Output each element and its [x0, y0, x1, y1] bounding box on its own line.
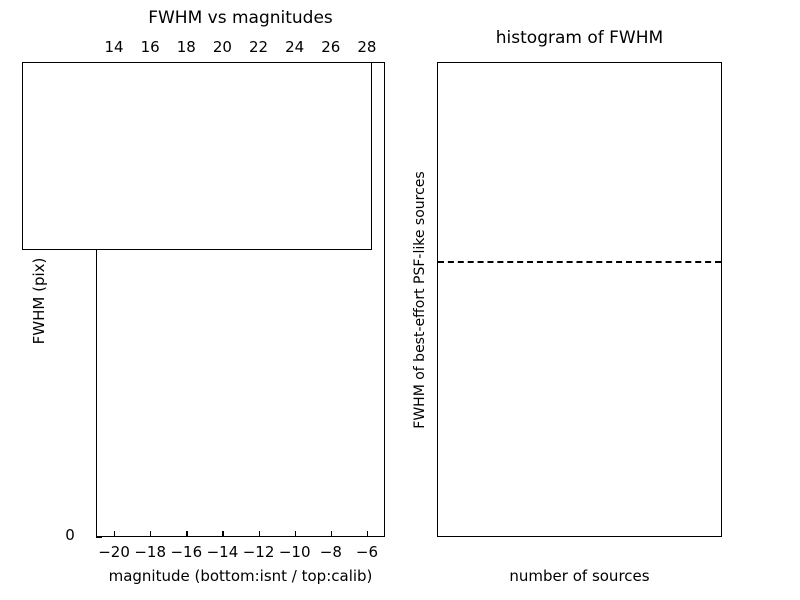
- xtick-label-top: 18: [168, 38, 204, 56]
- xtick-label-top: 24: [277, 38, 313, 56]
- axis-tick: [331, 531, 332, 537]
- xtick-label-top: 28: [349, 38, 385, 56]
- xtick-label-top: 26: [313, 38, 349, 56]
- histogram-plot-area: [438, 63, 721, 536]
- ytick-label: 0: [50, 526, 90, 544]
- histogram-title: histogram of FWHM: [437, 28, 722, 48]
- axis-tick: [295, 531, 296, 537]
- scatter-yaxis-label: FWHM (pix): [30, 241, 48, 361]
- xtick-label-top: 16: [132, 38, 168, 56]
- axis-tick: [114, 531, 115, 537]
- histogram-xaxis-label: number of sources: [437, 567, 722, 585]
- histogram-reference-line: [438, 261, 721, 263]
- histogram-yaxis-label: FWHM of best-effort PSF-like sources: [412, 140, 428, 460]
- axis-tick: [222, 531, 223, 537]
- xtick-label-top: 22: [241, 38, 277, 56]
- figure-canvas: FWHM vs magnitudes −20−18−16−14−12−10−8−…: [0, 0, 800, 600]
- scatter-xaxis-label: magnitude (bottom:isnt / top:calib): [96, 567, 385, 585]
- xtick-label-bottom: −6: [345, 543, 389, 561]
- axis-tick: [96, 536, 102, 537]
- xtick-label-top: 14: [96, 38, 132, 56]
- axis-tick: [367, 531, 368, 537]
- scatter-title: FWHM vs magnitudes: [96, 8, 385, 28]
- axis-tick: [259, 531, 260, 537]
- xtick-label-top: 20: [204, 38, 240, 56]
- legend: [22, 62, 372, 250]
- axis-tick: [186, 531, 187, 537]
- axis-tick: [150, 531, 151, 537]
